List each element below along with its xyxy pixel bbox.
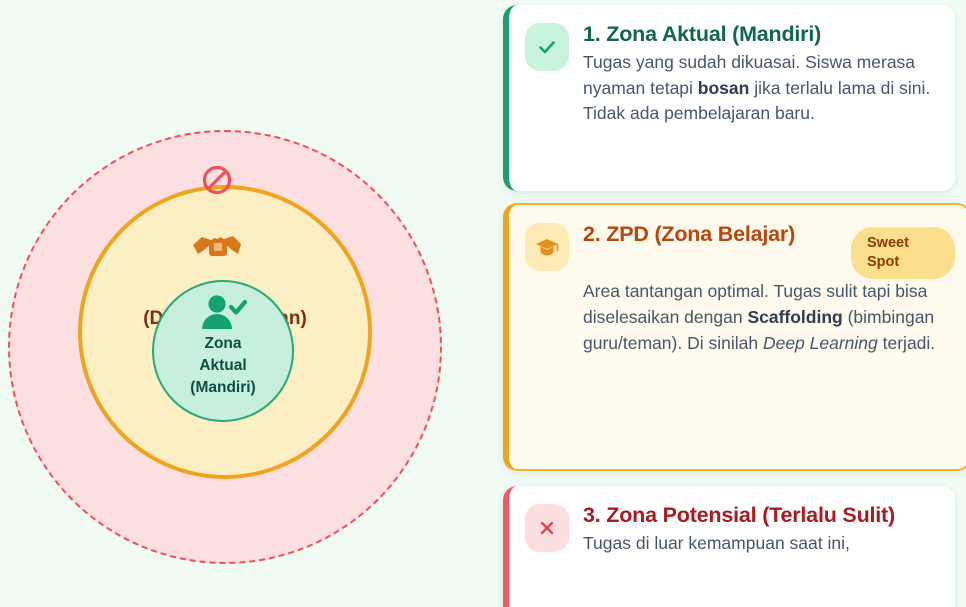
graduation-cap-icon: [525, 223, 569, 271]
card-description: Tugas yang sudah dikuasai. Siswa merasa …: [583, 50, 941, 127]
zone-cards-list: 1. Zona Aktual (Mandiri) Tugas yang suda…: [503, 0, 966, 607]
card-title: 1. Zona Aktual (Mandiri): [583, 21, 941, 48]
card-title-row: 2. ZPD (Zona Belajar) Sweet Spot: [583, 221, 955, 279]
card-zpd[interactable]: 2. ZPD (Zona Belajar) Sweet Spot Area ta…: [503, 203, 966, 471]
zone-aktual-label-line2: Aktual: [152, 355, 294, 377]
card-title: 3. Zona Potensial (Terlalu Sulit): [583, 502, 941, 529]
person-check-icon: [196, 293, 250, 331]
card-zona-aktual[interactable]: 1. Zona Aktual (Mandiri) Tugas yang suda…: [503, 5, 955, 191]
card-title: 2. ZPD (Zona Belajar): [583, 221, 795, 248]
zone-aktual-label-line1: Zona: [152, 333, 294, 355]
zone-aktual-label: Zona Aktual (Mandiri): [152, 333, 294, 399]
card-description: Area tantangan optimal. Tugas sulit tapi…: [583, 279, 955, 356]
prohibited-icon: [200, 163, 234, 197]
card-body: 2. ZPD (Zona Belajar) Sweet Spot Area ta…: [583, 221, 955, 356]
close-icon: [525, 504, 569, 552]
zone-aktual-label-line3: (Mandiri): [152, 377, 294, 399]
card-description: Tugas di luar kemampuan saat ini,: [583, 531, 941, 557]
check-icon: [525, 23, 569, 71]
zpd-diagram-panel: (Dengan Bantuan): [0, 0, 500, 607]
card-body: 1. Zona Aktual (Mandiri) Tugas yang suda…: [583, 21, 941, 127]
handshake-icon: [190, 228, 244, 268]
card-body: 3. Zona Potensial (Terlalu Sulit) Tugas …: [583, 502, 941, 557]
zpd-infographic: (Dengan Bantuan): [0, 0, 966, 607]
card-zona-potensial[interactable]: 3. Zona Potensial (Terlalu Sulit) Tugas …: [503, 486, 955, 607]
status-badge: Sweet Spot: [851, 227, 955, 279]
